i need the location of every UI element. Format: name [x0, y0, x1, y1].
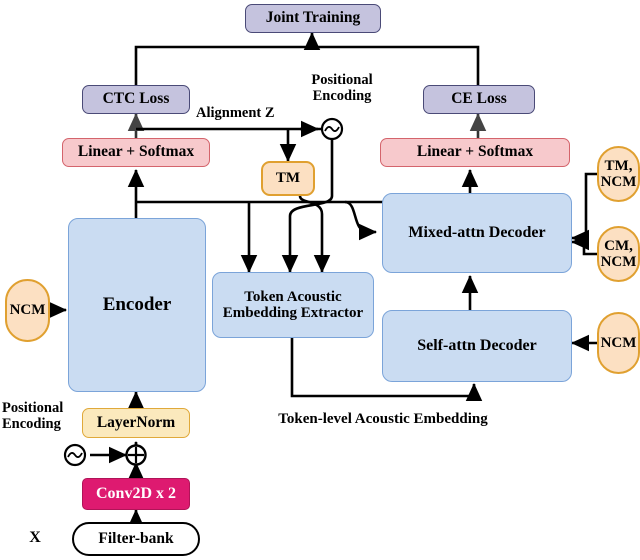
filter-bank-label: Filter-bank — [98, 531, 173, 548]
node-layernorm[interactable]: LayerNorm — [82, 408, 190, 438]
ce-loss-label: CE Loss — [451, 91, 507, 108]
cm-ncm-label-line1: CM, — [604, 238, 633, 254]
ncm-encoder-label: NCM — [10, 302, 46, 318]
ctc-loss-label: CTC Loss — [103, 91, 170, 108]
linear-softmax-right-label: Linear + Softmax — [417, 144, 533, 161]
token-level-acoustic-embedding-text: Token-level Acoustic Embedding — [278, 411, 487, 427]
label-positional-encoding-bottom: Positional Encoding — [2, 400, 88, 432]
node-ncm-encoder[interactable]: NCM — [5, 279, 50, 342]
node-conv2d[interactable]: Conv2D x 2 — [82, 478, 190, 510]
pe-bottom-line2: Encoding — [2, 416, 88, 432]
pe-bottom-line1: Positional — [2, 400, 88, 416]
node-tm-ncm[interactable]: TM, NCM — [597, 146, 640, 202]
label-positional-encoding-top: Positional Encoding — [296, 72, 388, 104]
wire-ctc-to-joint — [136, 33, 312, 85]
label-alignment-z: Alignment Z — [196, 105, 316, 121]
taee-label-line1: Token Acoustic — [244, 289, 341, 305]
node-joint-training[interactable]: Joint Training — [245, 4, 381, 33]
ncm-self-attn-label: NCM — [601, 335, 637, 351]
tm-label: TM — [276, 170, 300, 186]
node-token-acoustic-embedding-extractor[interactable]: Token Acoustic Embedding Extractor — [212, 272, 374, 338]
node-ctc-loss[interactable]: CTC Loss — [82, 85, 190, 114]
node-ce-loss[interactable]: CE Loss — [423, 85, 535, 114]
label-token-level-acoustic-embedding: Token-level Acoustic Embedding — [258, 411, 508, 428]
tm-ncm-label-line1: TM, — [605, 158, 633, 174]
taee-label-line2: Embedding Extractor — [223, 305, 363, 321]
wire-cmncm-to-mixed — [572, 242, 597, 254]
encoder-label: Encoder — [103, 295, 172, 316]
wire-pe-to-taee — [290, 139, 332, 272]
pe-top-line1: Positional — [296, 72, 388, 88]
input-x-text: X — [29, 529, 41, 546]
node-filter-bank[interactable]: Filter-bank — [72, 522, 200, 556]
conv2d-label: Conv2D x 2 — [96, 485, 176, 502]
joint-training-label: Joint Training — [266, 10, 361, 27]
node-mixed-attn-decoder[interactable]: Mixed-attn Decoder — [382, 193, 572, 273]
linear-softmax-left-label: Linear + Softmax — [78, 144, 194, 161]
layernorm-label: LayerNorm — [97, 415, 175, 432]
self-attn-decoder-label: Self-attn Decoder — [417, 337, 537, 354]
tm-ncm-label-line2: NCM — [601, 174, 637, 190]
architecture-diagram: Joint Training CTC Loss CE Loss Linear +… — [0, 0, 640, 560]
wire-tmncm-to-mixed — [572, 174, 597, 238]
node-encoder[interactable]: Encoder — [68, 218, 206, 392]
alignment-z-text: Alignment Z — [196, 105, 275, 121]
mixed-attn-decoder-label: Mixed-attn Decoder — [408, 224, 545, 241]
pe-top-line2: Encoding — [296, 88, 388, 104]
node-linear-softmax-right[interactable]: Linear + Softmax — [380, 138, 570, 167]
wire-bus-to-mixed-decoder — [345, 202, 376, 232]
node-cm-ncm[interactable]: CM, NCM — [597, 226, 640, 282]
cm-ncm-label-line2: NCM — [601, 254, 637, 270]
node-ncm-self-attn[interactable]: NCM — [597, 312, 640, 374]
node-self-attn-decoder[interactable]: Self-attn Decoder — [382, 310, 572, 382]
node-tm[interactable]: TM — [261, 161, 315, 196]
node-linear-softmax-left[interactable]: Linear + Softmax — [62, 138, 210, 167]
label-input-x: X — [24, 529, 46, 547]
